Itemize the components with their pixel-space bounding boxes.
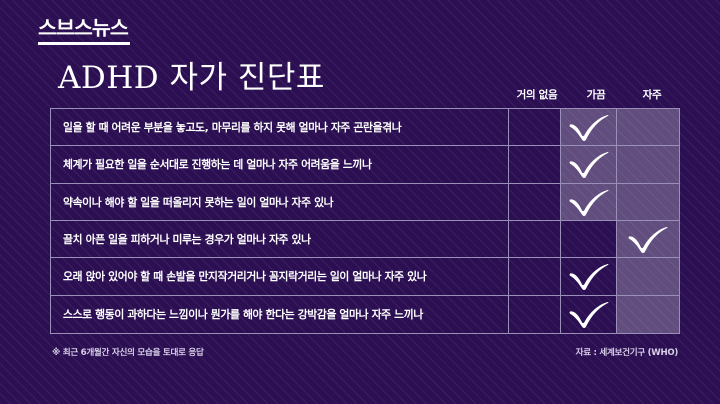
option-cell-rare[interactable]: [509, 146, 561, 182]
option-cell-often[interactable]: [617, 221, 679, 257]
check-mark-icon: [568, 260, 610, 290]
table-row: 일을 할 때 어려운 부분을 놓고도, 마무리를 하지 못해 얼마나 자주 곤란…: [51, 109, 679, 146]
question-cell: 끌치 아픈 일을 피하거나 미루는 경우가 얼마나 자주 있나: [51, 221, 509, 257]
table-row: 오래 앉아 있어야 할 때 손발을 만지작거리거나 꼼지락거리는 일이 얼마나 …: [51, 258, 679, 295]
sbs-news-logo: 스브스뉴스: [38, 18, 134, 48]
page-title: ADHD 자가 진단표: [58, 52, 325, 97]
option-cell-often[interactable]: [617, 184, 679, 220]
logo-wordmark: 스브스뉴스: [38, 18, 132, 39]
option-cell-often[interactable]: [617, 109, 679, 145]
option-cell-sometimes[interactable]: [561, 184, 617, 220]
self-assessment-table: 일을 할 때 어려운 부분을 놓고도, 마무리를 하지 못해 얼마나 자주 곤란…: [50, 108, 680, 334]
logo-underline-rule: [38, 42, 130, 45]
column-header-often: 자주: [624, 87, 680, 102]
infographic-canvas: 스브스뉴스 ADHD 자가 진단표 거의 없음 가끔 자주 일을 할 때 어려운…: [0, 0, 720, 404]
check-mark-icon: [568, 298, 610, 328]
question-text: 오래 앉아 있어야 할 때 손발을 만지작거리거나 꼼지락거리는 일이 얼마나 …: [63, 268, 426, 284]
column-header-sometimes: 가끔: [568, 87, 624, 102]
question-text: 일을 할 때 어려운 부분을 놓고도, 마무리를 하지 못해 얼마나 자주 곤란…: [63, 119, 401, 135]
option-cell-often[interactable]: [617, 258, 679, 294]
table-row: 체계가 필요한 일을 순서대로 진행하는 데 얼마나 자주 어려움을 느끼나: [51, 146, 679, 183]
option-cell-sometimes[interactable]: [561, 146, 617, 182]
table-row: 끌치 아픈 일을 피하거나 미루는 경우가 얼마나 자주 있나: [51, 221, 679, 258]
question-cell: 오래 앉아 있어야 할 때 손발을 만지작거리거나 꼼지락거리는 일이 얼마나 …: [51, 258, 509, 294]
question-cell: 스스로 행동이 과하다는 느낌이나 뭔가를 해야 한다는 강박감을 얼마나 자주…: [51, 296, 509, 333]
option-cell-rare[interactable]: [509, 258, 561, 294]
option-cell-often[interactable]: [617, 296, 679, 333]
option-cell-rare[interactable]: [509, 296, 561, 333]
question-cell: 체계가 필요한 일을 순서대로 진행하는 데 얼마나 자주 어려움을 느끼나: [51, 146, 509, 182]
column-header-rare: 거의 없음: [506, 87, 568, 102]
question-cell: 약속이나 해야 할 일을 떠올리지 못하는 일이 얼마나 자주 있나: [51, 184, 509, 220]
check-mark-icon: [568, 148, 610, 178]
footnote-source: 자료 : 세계보건기구 (WHO): [576, 346, 678, 358]
option-cell-rare[interactable]: [509, 184, 561, 220]
question-text: 체계가 필요한 일을 순서대로 진행하는 데 얼마나 자주 어려움을 느끼나: [63, 156, 372, 172]
check-mark-icon: [568, 186, 610, 216]
table-body: 일을 할 때 어려운 부분을 놓고도, 마무리를 하지 못해 얼마나 자주 곤란…: [51, 109, 679, 333]
option-cell-rare[interactable]: [509, 221, 561, 257]
check-mark-icon: [568, 111, 610, 141]
option-cell-sometimes[interactable]: [561, 109, 617, 145]
question-text: 스스로 행동이 과하다는 느낌이나 뭔가를 해야 한다는 강박감을 얼마나 자주…: [63, 306, 423, 322]
question-cell: 일을 할 때 어려운 부분을 놓고도, 마무리를 하지 못해 얼마나 자주 곤란…: [51, 109, 509, 145]
check-mark-icon: [627, 223, 669, 253]
table-row: 약속이나 해야 할 일을 떠올리지 못하는 일이 얼마나 자주 있나: [51, 184, 679, 221]
option-cell-sometimes[interactable]: [561, 258, 617, 294]
option-cell-sometimes[interactable]: [561, 296, 617, 333]
option-cell-sometimes[interactable]: [561, 221, 617, 257]
table-row: 스스로 행동이 과하다는 느낌이나 뭔가를 해야 한다는 강박감을 얼마나 자주…: [51, 296, 679, 333]
option-cell-rare[interactable]: [509, 109, 561, 145]
question-text: 끌치 아픈 일을 피하거나 미루는 경우가 얼마나 자주 있나: [63, 231, 311, 247]
question-text: 약속이나 해야 할 일을 떠올리지 못하는 일이 얼마나 자주 있나: [63, 194, 333, 210]
option-cell-often[interactable]: [617, 146, 679, 182]
column-header-row: 거의 없음 가끔 자주: [508, 87, 680, 103]
footnote-method: ※ 최근 6개월간 자신의 모습을 토대로 응답: [52, 346, 204, 358]
